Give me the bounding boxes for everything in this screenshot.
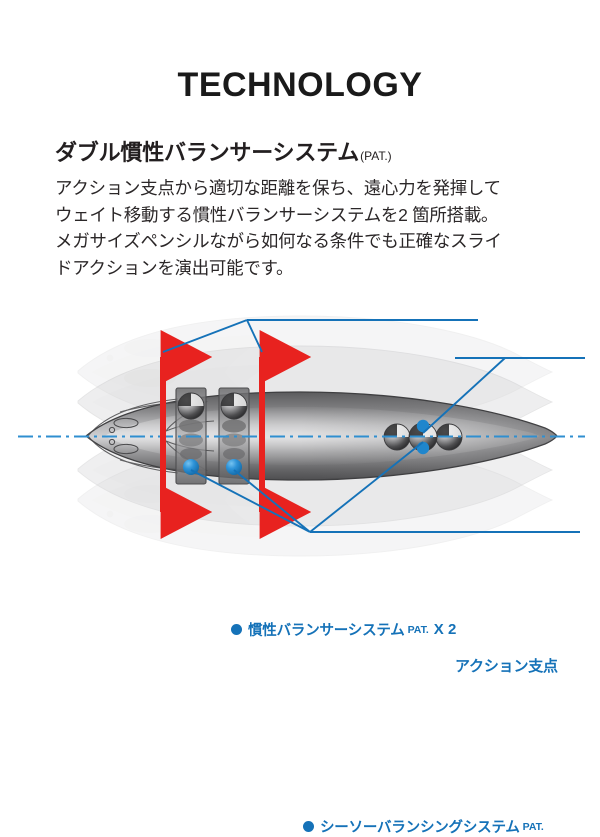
callout-inertia-patent: PAT. xyxy=(408,624,429,636)
bullet-icon xyxy=(303,821,314,832)
seesaw-ball-2 xyxy=(226,459,242,475)
lure-diagram: 慣性バランサーシステム PAT. X 2 アクション支点 シーソーバランシングシ… xyxy=(0,300,600,570)
body-description: アクション支点から適切な距離を保ち、遠心力を発揮してウェイト移動する慣性バランサ… xyxy=(55,175,503,281)
callout-seesaw-balancing: シーソーバランシングシステム PAT. xyxy=(303,816,544,837)
callout-fulcrum-label: アクション支点 xyxy=(455,655,558,676)
callout-inertia-label: 慣性バランサーシステム xyxy=(248,619,405,640)
callout-inertia-multiplier: X 2 xyxy=(434,621,457,638)
fulcrum-cap-top xyxy=(417,420,429,432)
page-title: TECHNOLOGY xyxy=(0,68,600,102)
subtitle-patent-suffix: (PAT.) xyxy=(360,149,392,163)
callout-inertia-balancer: 慣性バランサーシステム PAT. X 2 xyxy=(231,619,456,640)
lure-diagram-svg xyxy=(0,300,600,570)
bullet-icon xyxy=(231,624,242,635)
callout-seesaw-label: シーソーバランシングシステム xyxy=(320,816,520,837)
callout-action-fulcrum: アクション支点 xyxy=(455,655,558,676)
subtitle-text: ダブル慣性バランサーシステム xyxy=(55,135,359,167)
subtitle-row: ダブル慣性バランサーシステム (PAT.) xyxy=(55,135,392,167)
fulcrum-cap-bottom xyxy=(417,442,429,454)
callout-seesaw-patent: PAT. xyxy=(523,821,544,833)
